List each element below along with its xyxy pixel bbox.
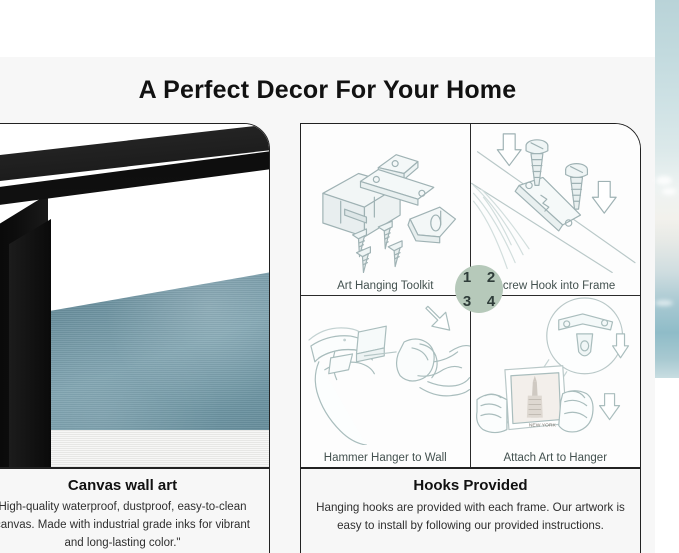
seascape-thumbnail-strip[interactable] xyxy=(655,0,679,378)
canvas-frame-photo xyxy=(0,124,269,467)
instruction-step-4[interactable]: NEW YORK Attach Art to Hanger xyxy=(471,296,641,468)
step-number-badge: 1 2 3 4 xyxy=(455,265,503,313)
canvas-photo-card[interactable] xyxy=(0,123,270,468)
toolkit-icon xyxy=(301,124,470,273)
frame-left-inner-edge xyxy=(9,219,51,468)
hooks-caption-body: Hanging hooks are provided with each fra… xyxy=(313,499,628,535)
product-detail-page: A Perfect Decor For Your Home xyxy=(0,0,679,553)
cloud-shape xyxy=(662,188,676,195)
hooks-caption-title: Hooks Provided xyxy=(313,477,628,494)
canvas-caption-body: High-quality waterproof, dustproof, easy… xyxy=(0,499,255,552)
instruction-step-3[interactable]: Hammer Hanger to Wall xyxy=(301,296,471,468)
page-title: A Perfect Decor For Your Home xyxy=(139,76,517,105)
screw-icon xyxy=(471,124,641,273)
step-badge-quadrant-2: 2 xyxy=(479,265,503,289)
frame-liner xyxy=(42,266,270,468)
cloud-shape xyxy=(656,176,672,185)
instruction-step-4-label: Attach Art to Hanger xyxy=(471,452,641,464)
step-badge-quadrant-1: 1 xyxy=(455,265,479,289)
hooks-caption-block: Hooks Provided Hanging hooks are provide… xyxy=(300,468,641,553)
instruction-step-1-label: Art Hanging Toolkit xyxy=(301,280,470,292)
header-bar: A Perfect Decor For Your Home xyxy=(0,57,655,123)
hammer-icon xyxy=(301,296,470,446)
canvas-caption-block: Canvas wall art High-quality waterproof,… xyxy=(0,468,270,553)
canvas-caption-title: Canvas wall art xyxy=(0,477,255,494)
instruction-step-1[interactable]: Art Hanging Toolkit xyxy=(301,124,471,296)
instruction-step-3-label: Hammer Hanger to Wall xyxy=(301,452,470,464)
svg-text:NEW YORK: NEW YORK xyxy=(528,422,556,428)
attach-art-icon: NEW YORK xyxy=(471,296,641,446)
cloud-shape xyxy=(655,300,673,306)
step-badge-quadrant-4: 4 xyxy=(479,289,503,313)
step-badge-quadrant-3: 3 xyxy=(455,289,479,313)
